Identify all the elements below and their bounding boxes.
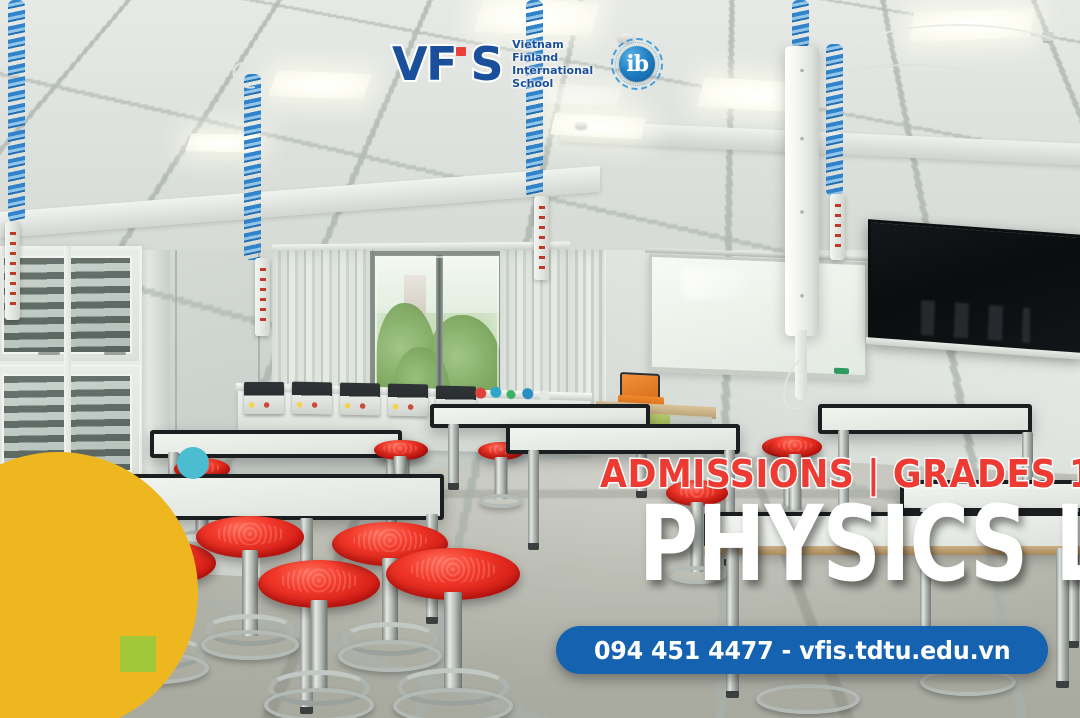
- stool-base: [264, 688, 374, 718]
- vfis-wordmark-line-2: Finland: [512, 51, 593, 64]
- stool-base: [338, 640, 442, 672]
- stool-base: [479, 494, 523, 508]
- cabinet-handle: [104, 352, 126, 355]
- stool-base: [756, 684, 860, 714]
- whiteboard-marker: [834, 368, 849, 375]
- power-supply-unit: [340, 383, 380, 416]
- lab-table-top: [506, 424, 740, 454]
- vfis-logo-letters: VF S: [392, 37, 502, 91]
- lab-table-top: [818, 404, 1032, 434]
- glass-cabinet: [0, 246, 142, 364]
- page-title: PHYSICS LAB: [639, 492, 1060, 596]
- lab-table: [818, 404, 1032, 434]
- smoke-detector-icon: [575, 122, 587, 129]
- power-supply-unit: [292, 382, 332, 415]
- logo-bar: VF S Vietnam Finland International Schoo…: [392, 38, 663, 90]
- lab-stool: [374, 440, 426, 460]
- tv-display: [868, 219, 1080, 357]
- table-leg: [448, 424, 459, 490]
- stool-base: [393, 688, 513, 718]
- table-leg: [528, 450, 539, 550]
- ib-logo-disc: ib: [619, 46, 655, 82]
- cabinet-handle: [38, 352, 60, 355]
- lab-stool: [386, 548, 520, 600]
- power-strip: [830, 194, 845, 260]
- coiled-blue-cable: [244, 74, 261, 260]
- ceiling-light-panel: [550, 113, 646, 140]
- power-supply-unit: [244, 382, 284, 414]
- teal-circle-decoration: [177, 447, 209, 479]
- ceiling-light-panel: [268, 70, 371, 99]
- power-strip: [534, 196, 549, 280]
- coiled-blue-cable: [792, 0, 809, 48]
- vfis-logo-mark: VF S: [392, 41, 502, 87]
- hanging-power-column: [785, 46, 819, 336]
- cabinet-divider: [64, 246, 71, 482]
- vfis-logo-dot: [456, 47, 466, 56]
- contact-pill[interactable]: 094 451 4477 - vfis.tdtu.edu.vn: [556, 626, 1048, 674]
- screen-reflection: [921, 300, 1030, 343]
- lab-stool: [756, 684, 860, 718]
- green-square-decoration: [120, 636, 156, 672]
- ib-logo-label: ib: [626, 53, 648, 75]
- whiteboard: [649, 254, 868, 380]
- power-strip: [255, 258, 270, 336]
- coiled-blue-cable: [8, 0, 25, 222]
- vfis-wordmark-line-1: Vietnam: [512, 38, 593, 51]
- lab-table: [506, 424, 740, 454]
- coiled-blue-cable: [826, 44, 843, 196]
- banner-canvas: VF S Vietnam Finland International Schoo…: [0, 0, 1080, 718]
- contact-text: 094 451 4477 - vfis.tdtu.edu.vn: [594, 636, 1010, 665]
- vfis-wordmark-line-3: International: [512, 64, 593, 77]
- vfis-wordmark: Vietnam Finland International School: [512, 38, 593, 90]
- ib-logo: ib: [611, 38, 663, 90]
- lab-stool: [258, 560, 380, 608]
- coiled-blue-cable: [526, 0, 543, 198]
- stool-post: [495, 457, 508, 499]
- stool-base: [201, 630, 299, 660]
- power-supply-unit: [388, 384, 428, 417]
- power-strip: [5, 222, 20, 320]
- lab-accessories: [474, 385, 558, 402]
- vfis-wordmark-line-4: School: [512, 77, 593, 90]
- lab-stool: [196, 516, 304, 558]
